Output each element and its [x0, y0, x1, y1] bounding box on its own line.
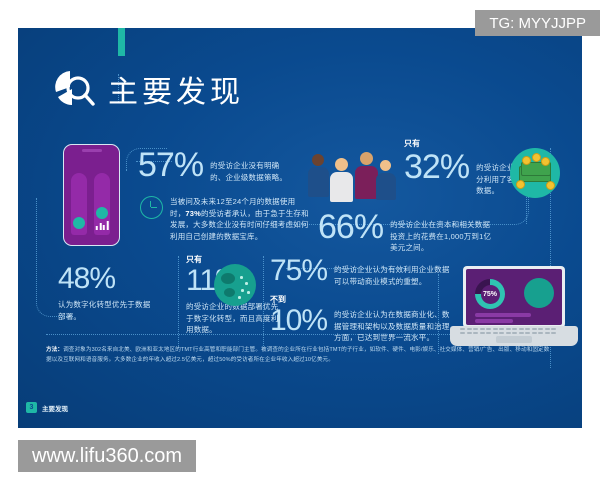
page-number: 3 — [26, 402, 37, 413]
person-body — [330, 172, 353, 202]
laptop-dashboard-icon: 75% — [450, 266, 578, 352]
donut-value: 75% — [481, 285, 500, 304]
note-bold: 73% — [185, 209, 201, 218]
person-head — [360, 152, 373, 165]
coin — [516, 180, 525, 189]
stat-prefix: 不到 — [270, 296, 450, 304]
globe-landmass — [224, 288, 235, 297]
phone-bar — [94, 173, 110, 235]
phone-icon-circle — [73, 217, 85, 229]
stat-text: 的受访企业在资本和相关数据投资上的花费在1,000万到1亿美元之间。 — [390, 210, 494, 254]
stat-value: 48% — [58, 264, 164, 294]
data-globe-icon — [214, 264, 256, 306]
page-title: 主要发现 — [108, 67, 244, 111]
laptop-lid: 75% — [463, 266, 565, 328]
stat-value: 10% — [270, 306, 327, 336]
person-head — [335, 158, 348, 171]
footnote-text: 调查对象为302名来自北美、欧洲和亚太地区的TMT行业高管和职能部门主管。被调查… — [46, 347, 549, 363]
person-body — [376, 173, 396, 200]
stat-text: 的受访企业没有明确的、企业级数据策略。 — [210, 148, 288, 183]
teal-accent-bar — [118, 28, 125, 56]
person-body — [308, 167, 329, 197]
stat-value: 66% — [318, 210, 383, 244]
stat-value: 57% — [138, 148, 203, 182]
phone-mini-chart — [96, 221, 109, 230]
stat-value: 32% — [404, 150, 469, 184]
stat-text: 认为数字化转型优先于数据部署。 — [58, 299, 154, 322]
phone-bar — [71, 173, 87, 235]
globe-landmass — [221, 273, 235, 284]
smartphone-icon — [63, 144, 120, 246]
coin — [532, 153, 541, 162]
stat-text: 的受访企业的数据部署优先于数字化转型，而且高度利用数据。 — [186, 301, 282, 336]
note-block: 当被问及未来12至24个月的数据使用时，73%的受访者承认，由于急于生存和发展，… — [140, 196, 310, 243]
person-body — [355, 166, 378, 199]
phone-notch — [82, 149, 102, 152]
coin — [522, 156, 531, 165]
donut-chart: 75% — [475, 279, 505, 309]
infographic-slide: 主要发现 57% 的受访企业没有明确的、企业级数据策略。 当被问及未来12至24… — [18, 28, 582, 428]
note-text: 当被问及未来12至24个月的数据使用时，73%的受访者承认，由于急于生存和发展，… — [170, 196, 310, 243]
clock-icon — [140, 196, 163, 219]
stat-text: 的受访企业认为有效利用企业数据可以带动商业模式的重塑。 — [334, 256, 450, 287]
footnote: 方法：调查对象为302名来自北美、欧洲和亚太地区的TMT行业高管和职能部门主管。… — [46, 346, 551, 366]
phone-icon-circle — [96, 207, 108, 219]
stat-32: 只有 32% 的受访企业充分利用了客户数据。 — [404, 140, 524, 197]
coin — [546, 181, 555, 190]
laptop-screen: 75% — [466, 269, 562, 325]
stat-48: 48% 认为数字化转型优先于数据部署。 — [58, 264, 164, 322]
slide-header: 主要发现 — [50, 66, 244, 112]
person-head — [312, 154, 324, 166]
screen-sphere-icon — [524, 278, 554, 308]
stat-57: 57% 的受访企业没有明确的、企业级数据策略。 — [138, 148, 288, 183]
footnote-label: 方法： — [46, 347, 63, 353]
watermark-bottom: www.lifu360.com — [18, 440, 196, 472]
laptop-trackpad — [496, 336, 532, 343]
watermark-top: TG: MYYJJPP — [475, 10, 600, 36]
stat-75: 75% 的受访企业认为有效利用企业数据可以带动商业模式的重塑。 — [270, 256, 450, 287]
laptop-base — [450, 326, 578, 346]
stat-66: 66% 的受访企业在资本和相关数据投资上的花费在1,000万到1亿美元之间。 — [318, 210, 518, 254]
pie-magnifier-icon — [50, 66, 96, 112]
money-stack-icon — [510, 148, 560, 198]
stat-10: 不到 10% 的受访企业认为在数据商业化、数据管理和架构以及数据质量和治理方面，… — [270, 296, 450, 344]
coin — [541, 157, 550, 166]
stat-prefix: 只有 — [404, 140, 524, 148]
stat-value: 75% — [270, 256, 327, 286]
page-badge-label: 主要发现 — [42, 403, 68, 413]
stat-text: 的受访企业认为在数据商业化、数据管理和架构以及数据质量和治理方面，已达到世界一流… — [334, 306, 450, 344]
page-badge: 3 主要发现 — [26, 402, 68, 413]
person-head — [380, 160, 391, 171]
people-group-icon — [308, 146, 400, 208]
